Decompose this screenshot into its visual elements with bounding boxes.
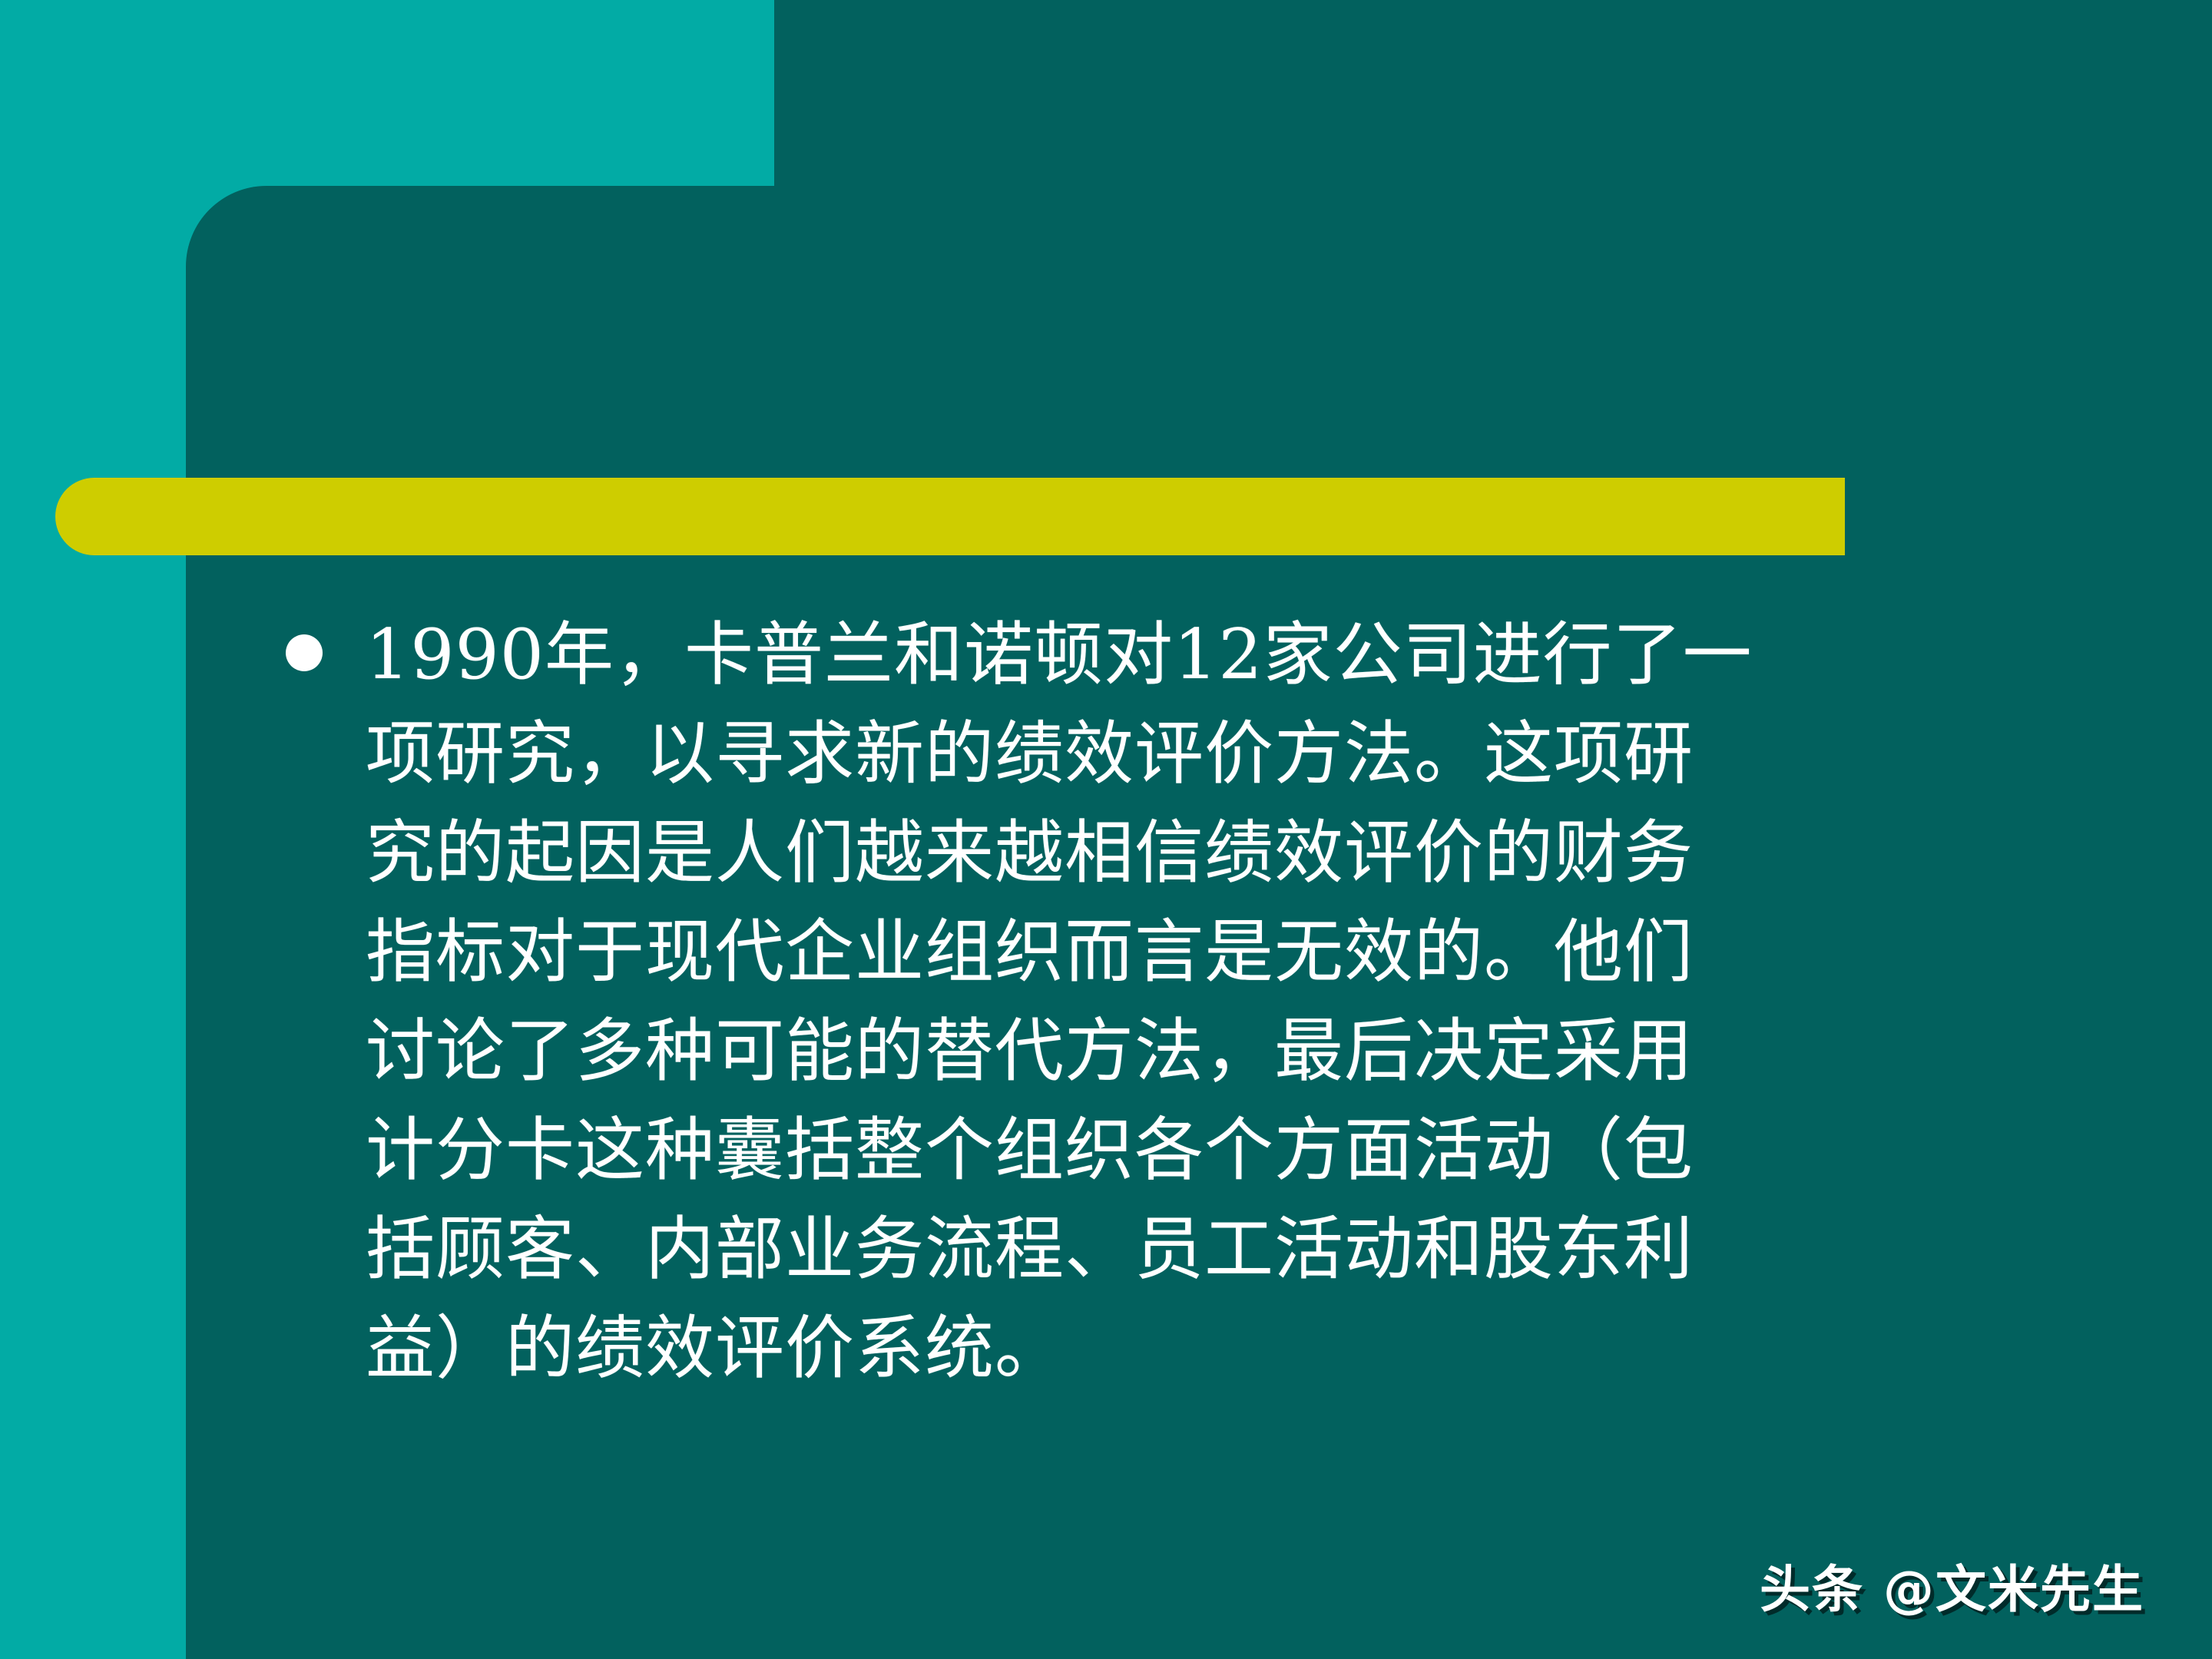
bullet-point-icon bbox=[286, 634, 323, 671]
slide-canvas: 1990年，卡普兰和诺顿对12家公司进行了一 项研究，以寻求新的绩效评价方法。这… bbox=[0, 0, 2212, 1659]
body-text-block: 1990年，卡普兰和诺顿对12家公司进行了一 项研究，以寻求新的绩效评价方法。这… bbox=[286, 605, 2022, 1398]
accent-left-strip bbox=[0, 0, 186, 1659]
panel-top-right-fill bbox=[774, 0, 2212, 186]
title-banner-bar bbox=[55, 478, 1845, 555]
watermark-label: 头条 @文米先生 bbox=[1760, 1548, 2144, 1622]
body-paragraph: 1990年，卡普兰和诺顿对12家公司进行了一 项研究，以寻求新的绩效评价方法。这… bbox=[366, 605, 2022, 1398]
